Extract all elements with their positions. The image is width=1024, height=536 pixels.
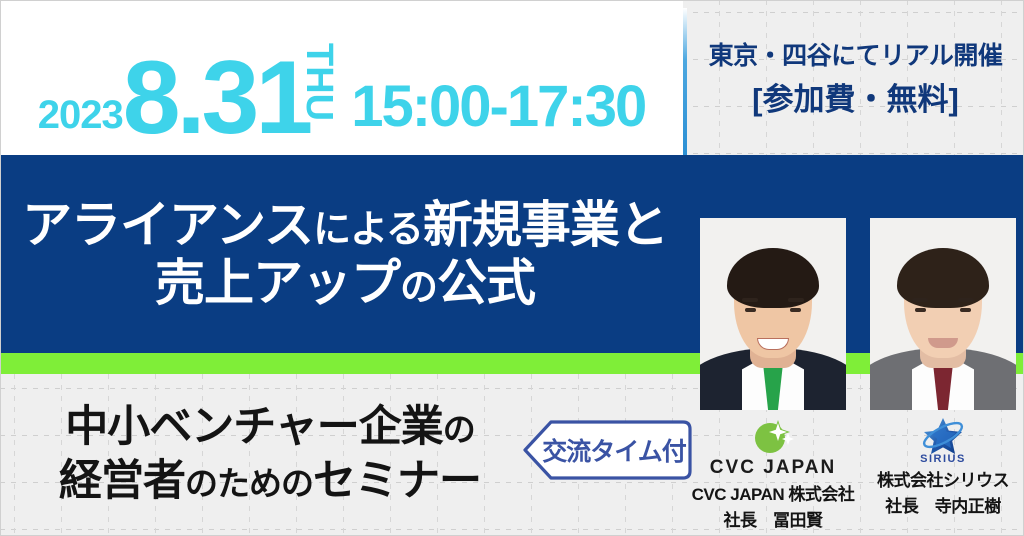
main-title-seg-1a: アライアンス — [22, 197, 313, 253]
portrait-1-brow-left — [742, 298, 758, 302]
portrait-1 — [700, 218, 846, 410]
portrait-2-eye-right — [960, 308, 971, 312]
portrait-1-brow-right — [788, 298, 804, 302]
subtitle-seg-1a: 中小ベンチャー企業 — [65, 403, 443, 451]
networking-badge-label: 交流タイム付 — [521, 419, 693, 481]
speaker-photo-1 — [700, 218, 846, 410]
speaker-1-company: CVC JAPAN 株式会社 — [692, 480, 855, 505]
main-title-line-1: アライアンスによる新規事業と — [22, 197, 668, 253]
main-title-line-2: 売上アップの公式 — [155, 255, 535, 311]
speaker-2-person: 社長 寺内正樹 — [885, 492, 1001, 517]
speaker-credential-1: CVC JAPAN CVC JAPAN 株式会社 社長 冨田賢 — [688, 414, 858, 531]
main-title-seg-1b: による — [313, 209, 423, 251]
portrait-1-eye-left — [745, 308, 756, 312]
event-month-day: 8.31 — [123, 56, 309, 141]
main-title-seg-2b: の — [400, 267, 437, 309]
subtitle-seg-1b: の — [443, 411, 475, 448]
subtitle-line-1: 中小ベンチャー企業の — [65, 403, 475, 453]
portrait-2-brow-left — [912, 298, 928, 302]
speaker-credential-2: SIRIUS 株式会社シリウス 社長 寺内正樹 — [858, 414, 1024, 517]
header-band: 2023 8.31 THU 15:00-17:30 東京・四谷にてリアル開催 [… — [0, 0, 1024, 155]
portrait-2 — [870, 218, 1016, 410]
main-title-seg-2a: 売上アップ — [155, 255, 400, 311]
portrait-2-eye-left — [915, 308, 926, 312]
event-info-panel: 東京・四谷にてリアル開催 [参加費・無料] — [687, 0, 1024, 155]
portrait-2-brow-right — [958, 298, 974, 302]
seminar-banner: 2023 8.31 THU 15:00-17:30 東京・四谷にてリアル開催 [… — [0, 0, 1024, 536]
event-day-of-week-wrap: THU — [309, 41, 343, 137]
event-year: 2023 — [38, 95, 123, 135]
speaker-1-person: 社長 冨田賢 — [724, 506, 823, 531]
portrait-1-hair — [727, 248, 819, 308]
sirius-logo-wordmark: SIRIUS — [920, 453, 966, 465]
cvc-japan-logo-wordmark: CVC JAPAN — [710, 457, 836, 479]
sirius-logo-icon — [919, 414, 967, 458]
event-day-of-week: THU — [297, 43, 340, 121]
subtitle-line-2: 経営者のためのセミナー — [59, 457, 481, 507]
event-venue: 東京・四谷にてリアル開催 — [709, 36, 1003, 72]
speaker-2-company: 株式会社シリウス — [877, 466, 1009, 491]
portrait-1-eye-right — [790, 308, 801, 312]
speaker-photo-2 — [870, 218, 1016, 410]
event-time-range: 15:00-17:30 — [351, 78, 645, 136]
networking-badge: 交流タイム付 — [521, 419, 693, 481]
sirius-logo — [919, 414, 967, 458]
event-date-row: 2023 8.31 THU 15:00-17:30 — [0, 0, 683, 155]
subtitle-seg-2a: 経営者 — [59, 457, 185, 505]
event-fee: [参加費・無料] — [752, 74, 959, 119]
portrait-2-hair — [897, 248, 989, 308]
subtitle-seg-2c: セミナー — [313, 457, 481, 505]
cvc-japan-logo-icon — [751, 416, 795, 456]
main-title-seg-1c: 新規事業と — [423, 197, 668, 253]
subtitle-seg-2b: のための — [185, 465, 313, 502]
cvc-japan-logo — [751, 414, 795, 458]
main-title-seg-2c: 公式 — [437, 255, 535, 311]
main-title: アライアンスによる新規事業と 売上アップの公式 — [0, 155, 690, 353]
